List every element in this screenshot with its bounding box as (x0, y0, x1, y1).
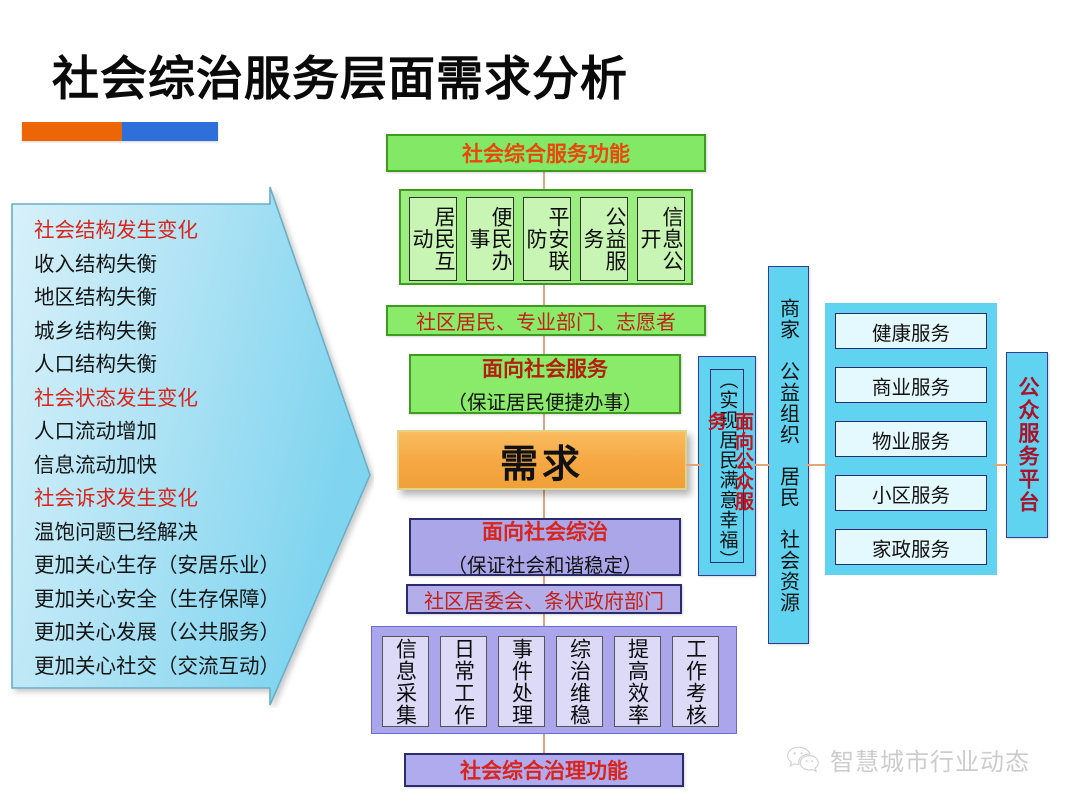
govern-actors: 社区居委会、条状政府部门 (406, 584, 682, 614)
service-orientation-title: 面向社会服务 (482, 353, 608, 383)
govern-item-box[interactable]: 综治维稳 (556, 636, 603, 727)
slide-canvas: 社会综治服务层面需求分析 社会结构发生变化 收入结构失衡 地区结构失衡 城 (0, 0, 1080, 810)
list-item: 信息流动加快 (34, 449, 324, 483)
list-item: 更加关心生存（安居乐业） (34, 549, 324, 583)
service-catalog-item[interactable]: 物业服务 (835, 421, 987, 457)
watermark: 智慧城市行业动态 (786, 742, 1030, 777)
public-service-label: 面向公众服务 (702, 412, 756, 521)
connector-public-service-to-actors (754, 464, 770, 466)
service-catalog-item[interactable]: 健康服务 (835, 313, 987, 349)
service-catalog-item[interactable]: 商业服务 (835, 367, 987, 403)
service-catalog-item[interactable]: 家政服务 (835, 529, 987, 565)
list-item: 更加关心发展（公共服务） (34, 616, 324, 650)
govern-orientation-title: 面向社会综治 (482, 516, 608, 546)
list-item: 社会诉求发生变化 (34, 482, 324, 516)
govern-item-box[interactable]: 提高效率 (614, 636, 661, 727)
govern-item-box[interactable]: 信息采集 (382, 636, 429, 727)
govern-item-box[interactable]: 日常工作 (440, 636, 487, 727)
connector-need-to-public-service (686, 464, 702, 466)
service-orientation-box: 面向社会服务 （保证居民便捷办事） (409, 354, 681, 414)
list-item: 温饱问题已经解决 (34, 516, 324, 550)
service-function-header: 社会综合服务功能 (386, 134, 706, 172)
accent-bar-orange-segment (22, 122, 122, 141)
public-service-orientation-box: 面向公众服务 （实现居民满意幸福） (698, 356, 756, 576)
govern-items-strip: 信息采集 日常工作 事件处理 综治维稳 提高效率 工作考核 (371, 626, 737, 734)
list-item: 社会状态发生变化 (34, 382, 324, 416)
service-actors: 社区居民、专业部门、志愿者 (386, 305, 706, 336)
public-service-platform: 公众服务平台 (1006, 352, 1048, 538)
govern-item-box[interactable]: 工作考核 (672, 636, 719, 727)
service-item-box[interactable]: 居民互动 (409, 197, 457, 281)
service-item-box[interactable]: 平安联防 (523, 197, 571, 281)
govern-item-box[interactable]: 事件处理 (498, 636, 545, 727)
demand-source-arrow-panel: 社会结构发生变化 收入结构失衡 地区结构失衡 城乡结构失衡 人口结构失衡 社会状… (8, 184, 374, 708)
list-item: 城乡结构失衡 (34, 315, 324, 349)
watermark-label: 智慧城市行业动态 (830, 742, 1030, 777)
service-orientation-subtitle: （保证居民便捷办事） (447, 386, 642, 415)
service-item-box[interactable]: 公益服务 (580, 197, 628, 281)
accent-bar-blue-segment (122, 122, 218, 141)
demand-source-list: 社会结构发生变化 收入结构失衡 地区结构失衡 城乡结构失衡 人口结构失衡 社会状… (34, 214, 324, 683)
list-item: 更加关心社交（交流互动） (34, 650, 324, 684)
list-item: 更加关心安全（生存保障） (34, 583, 324, 617)
public-actors-column: 商家 公益组织 居民 社会资源 (768, 266, 809, 644)
service-catalog-item[interactable]: 小区服务 (835, 475, 987, 511)
service-item-box[interactable]: 便民办事 (466, 197, 514, 281)
govern-orientation-box: 面向社会综治 （保证社会和谐稳定） (409, 518, 681, 576)
page-title: 社会综治服务层面需求分析 (52, 40, 628, 109)
service-catalog-panel: 健康服务 商业服务 物业服务 小区服务 家政服务 (825, 303, 997, 575)
list-item: 社会结构发生变化 (34, 214, 324, 248)
list-item: 收入结构失衡 (34, 248, 324, 282)
govern-function-footer: 社会综合治理功能 (404, 753, 684, 787)
service-item-box[interactable]: 信息公开 (637, 197, 685, 281)
accent-bar (22, 122, 218, 141)
list-item: 地区结构失衡 (34, 281, 324, 315)
wechat-icon (786, 745, 820, 775)
list-item: 人口流动增加 (34, 415, 324, 449)
govern-orientation-subtitle: （保证社会和谐稳定） (447, 549, 642, 578)
list-item: 人口结构失衡 (34, 348, 324, 382)
need-box: 需求 (397, 430, 687, 490)
service-items-strip: 居民互动 便民办事 平安联防 公益服务 信息公开 (399, 189, 693, 285)
connector-actors-to-services (806, 464, 828, 466)
connector-services-to-platform (994, 464, 1008, 466)
